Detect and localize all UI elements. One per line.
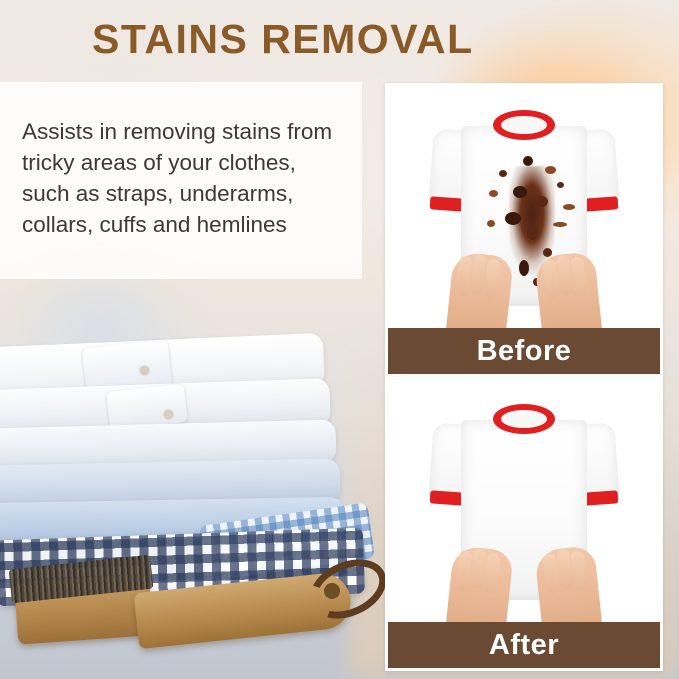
- stain-splatter: [545, 166, 556, 174]
- stain-splatter: [543, 248, 552, 257]
- stain-splatter: [487, 220, 495, 227]
- finger: [570, 550, 587, 591]
- tshirt-stained: [431, 104, 617, 310]
- page-title: STAINS REMOVAL: [92, 16, 652, 63]
- finger: [570, 256, 587, 297]
- tshirt-collar-opening: [501, 410, 547, 428]
- product-infographic: STAINS REMOVAL Assists in removing stain…: [0, 0, 679, 679]
- stain-splatter: [513, 186, 527, 198]
- stain-splatter: [489, 190, 498, 197]
- after-label: After: [489, 629, 559, 662]
- tshirt-clean: [431, 398, 617, 604]
- stain-splatter: [553, 222, 567, 227]
- after-label-bar: After: [388, 622, 660, 668]
- stain-splatter: [557, 182, 564, 188]
- shirt-button: [164, 410, 173, 419]
- description-panel: Assists in removing stains from tricky a…: [0, 82, 362, 279]
- finger: [483, 259, 500, 300]
- before-photo-card: Before: [385, 83, 663, 377]
- before-label: Before: [477, 335, 572, 368]
- stain-splatter: [505, 212, 521, 225]
- stain-splatter: [563, 204, 575, 210]
- tshirt-collar-opening: [501, 116, 547, 134]
- stain-splatter: [499, 170, 507, 177]
- stain-splatter: [523, 156, 533, 166]
- finger: [483, 553, 500, 594]
- stain-splatter: [535, 196, 548, 207]
- stain-splatter: [519, 260, 529, 276]
- before-label-bar: Before: [388, 328, 660, 374]
- shirt-button: [140, 366, 149, 375]
- scrub-brush: [8, 556, 388, 666]
- stain-splatter: [527, 226, 538, 240]
- description-text: Assists in removing stains from tricky a…: [22, 116, 344, 240]
- after-photo-card: After: [385, 377, 663, 671]
